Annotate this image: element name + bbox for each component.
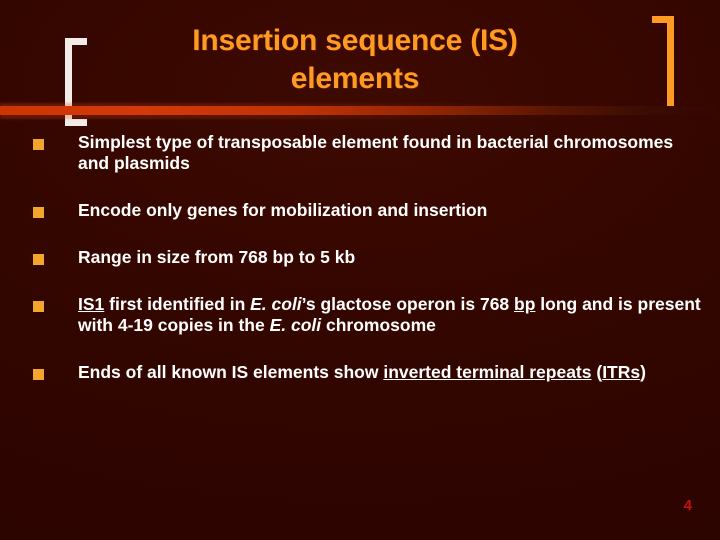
bullet-text-4: IS1 first identified in E. coli’s glacto… [78, 294, 702, 336]
list-item: Simplest type of transposable element fo… [0, 132, 720, 174]
page-title-line-1: Insertion sequence (IS) [95, 22, 615, 60]
list-item: Ends of all known IS elements show inver… [0, 362, 720, 383]
bullet-text-3: Range in size from 768 bp to 5 kb [78, 247, 702, 268]
title-area: Insertion sequence (IS) elements [0, 0, 720, 130]
bullet-square-icon [33, 301, 44, 312]
bullet-square-icon [33, 207, 44, 218]
page-title: Insertion sequence (IS) elements [95, 22, 615, 98]
bullet-text-1: Simplest type of transposable element fo… [78, 132, 702, 174]
bullet-text-5: Ends of all known IS elements show inver… [78, 362, 702, 383]
list-item: IS1 first identified in E. coli’s glacto… [0, 294, 720, 336]
list-item: Range in size from 768 bp to 5 kb [0, 247, 720, 268]
bullet-text-2: Encode only genes for mobilization and i… [78, 200, 702, 221]
list-item: Encode only genes for mobilization and i… [0, 200, 720, 221]
right-bracket-decoration [652, 16, 674, 114]
title-divider-rule [0, 106, 720, 115]
slide-canvas: Insertion sequence (IS) elements Simples… [0, 0, 720, 540]
bullet-square-icon [33, 254, 44, 265]
bullet-list: Simplest type of transposable element fo… [0, 132, 720, 492]
bullet-square-icon [33, 369, 44, 380]
page-number: 4 [684, 498, 692, 514]
page-title-line-2: elements [95, 60, 615, 98]
bullet-square-icon [33, 139, 44, 150]
